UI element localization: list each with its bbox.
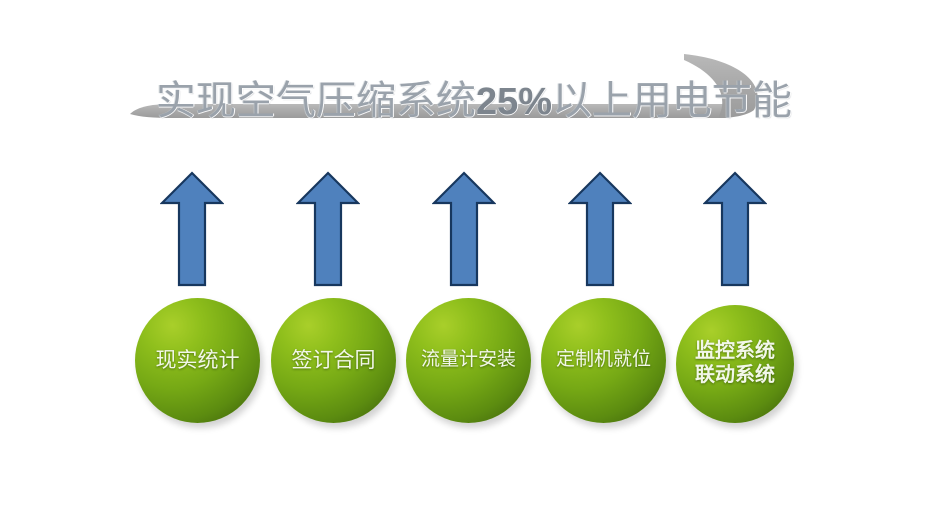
up-arrow-icon [160,170,224,288]
step-circle-5[interactable]: 监控系统 联动系统 [676,305,794,423]
title-prefix: 实现空气压缩系统 [156,78,476,123]
up-arrow-icon [703,170,767,288]
step-circle-1[interactable]: 现实统计 [135,298,260,423]
step-label-3: 流量计安装 [421,349,516,371]
up-arrow-2 [296,170,360,288]
page-title: 实现空气压缩系统25%以上用电节能 [156,74,756,128]
step-circle-4[interactable]: 定制机就位 [541,298,666,423]
step-label-4: 定制机就位 [556,349,651,371]
up-arrow-4 [568,170,632,288]
step-circle-3[interactable]: 流量计安装 [406,298,531,423]
step-label-5: 监控系统 联动系统 [695,340,775,387]
up-arrow-1 [160,170,224,288]
up-arrow-icon [568,170,632,288]
title-suffix: 以上用电节能 [552,78,792,123]
up-arrow-3 [432,170,496,288]
title-banner: 实现空气压缩系统25%以上用电节能 [128,34,788,144]
step-circle-2[interactable]: 签订合同 [271,298,396,423]
step-label-1: 现实统计 [156,348,240,373]
step-label-2: 签订合同 [292,348,376,373]
up-arrow-icon [432,170,496,288]
up-arrow-5 [703,170,767,288]
title-highlight-percent: 25% [476,81,552,123]
slide-canvas: 实现空气压缩系统25%以上用电节能 现实统计 签订合同 流量计安装 [0,0,945,529]
up-arrow-icon [296,170,360,288]
